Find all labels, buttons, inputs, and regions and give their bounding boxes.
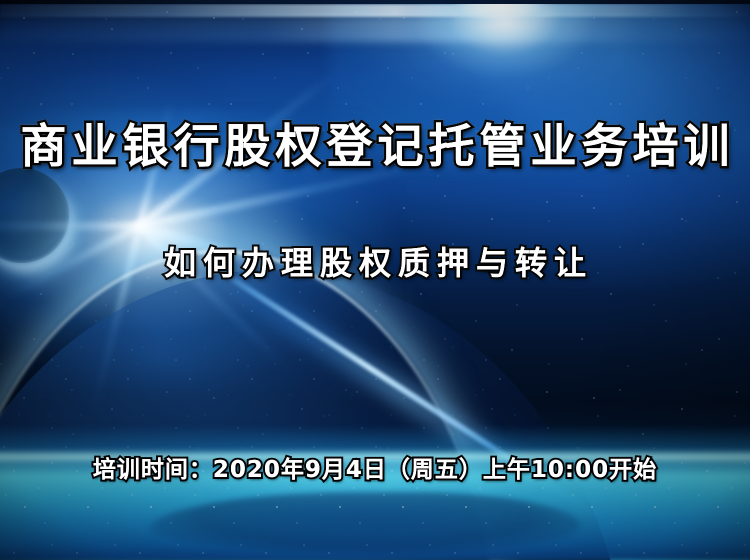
planet-surface-texture <box>0 270 630 560</box>
poster-banner: 商业银行股权登记托管业务培训 商业银行股权登记托管业务培训 如何办理股权质押与转… <box>0 0 750 560</box>
top-lens-flare-core <box>455 0 545 22</box>
earth-atmosphere <box>0 425 750 560</box>
earth-landmass <box>150 492 580 554</box>
poster-title: 商业银行股权登记托管业务培训 <box>0 118 750 174</box>
training-datetime: 培训时间：2020年9月4日（周五）上午10:00开始 <box>0 455 750 485</box>
planet-limb-edge <box>0 250 500 560</box>
top-light-streak-soft <box>0 16 750 42</box>
poster-subtitle: 如何办理股权质押与转让 <box>0 242 750 284</box>
top-light-streak <box>0 4 750 17</box>
sunburst-ray <box>0 222 140 230</box>
planet-body <box>0 270 630 560</box>
planet-limb-glow <box>0 250 500 560</box>
top-lens-flare <box>400 0 610 88</box>
comet-beam-halo <box>193 252 609 534</box>
top-dark-bar <box>0 0 750 4</box>
